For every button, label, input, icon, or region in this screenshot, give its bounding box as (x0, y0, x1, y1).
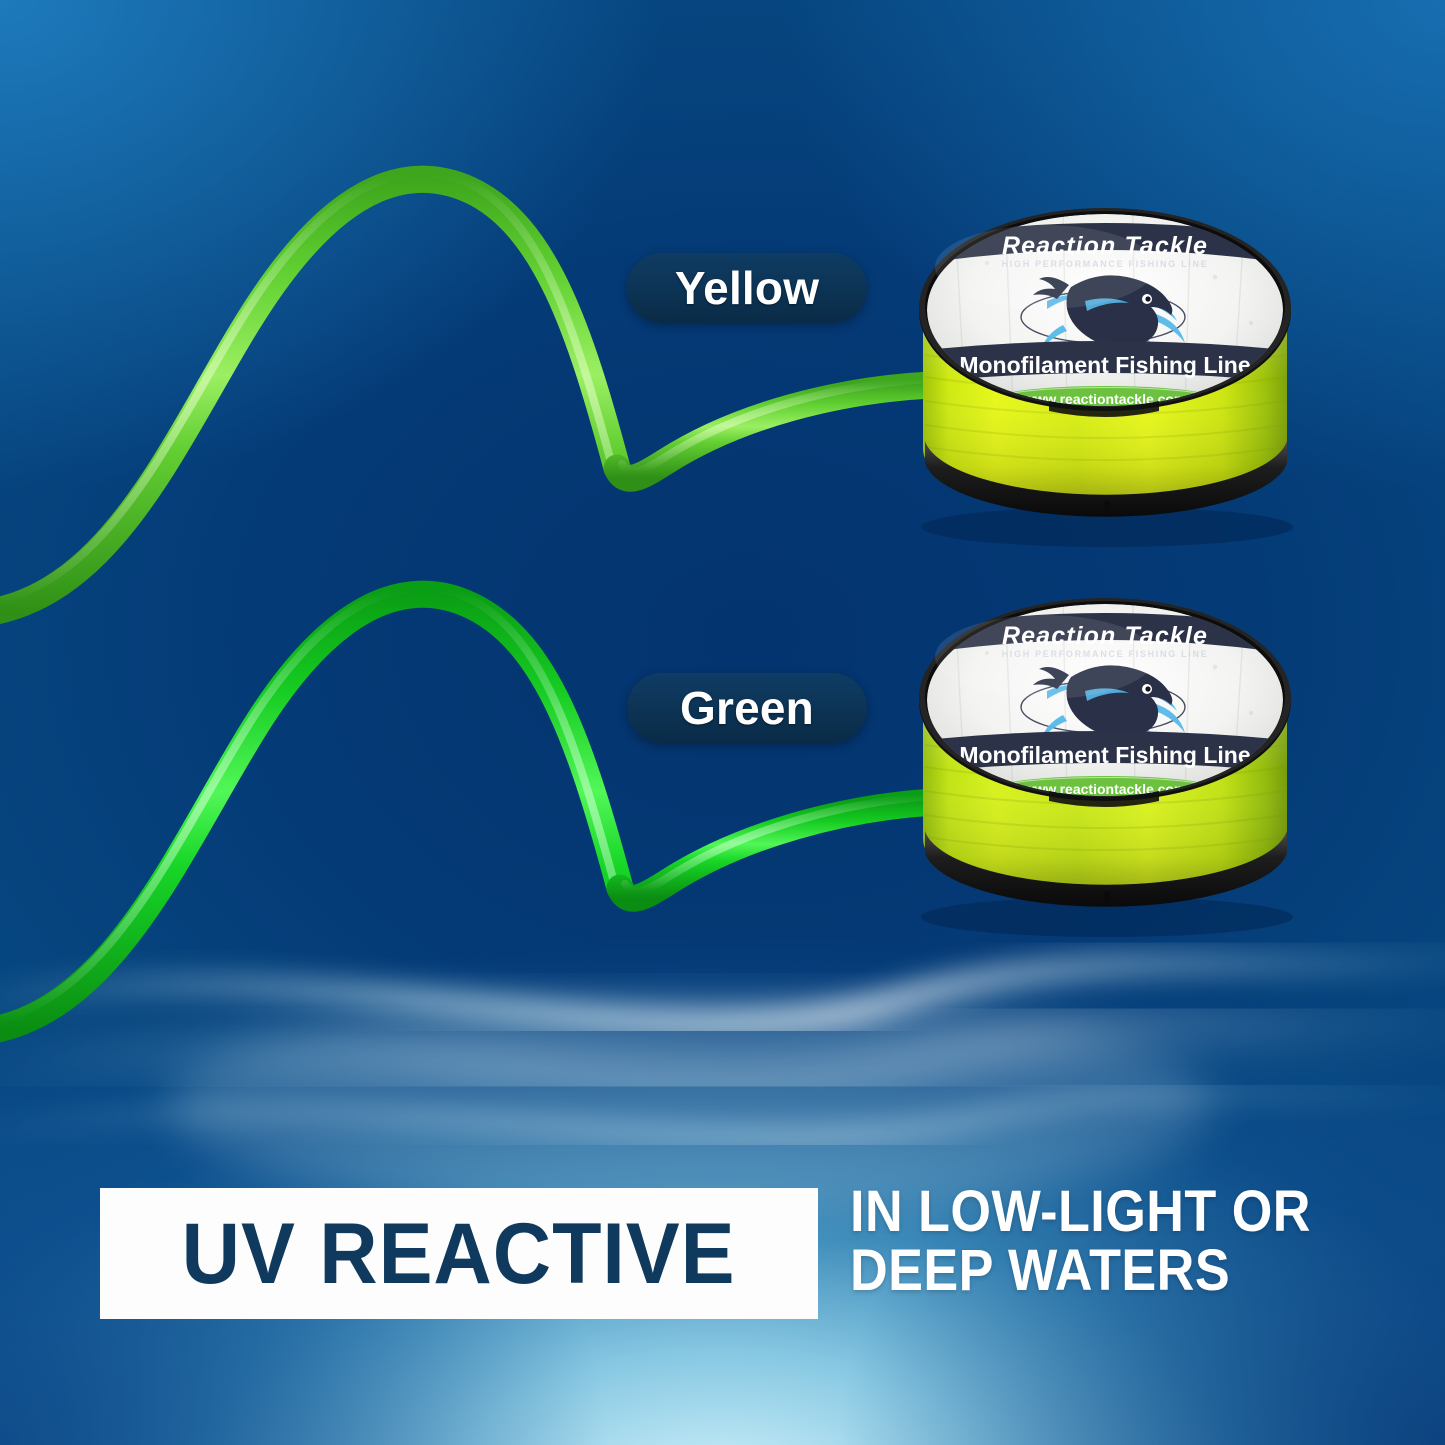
callout-yellow[interactable]: Yellow (627, 253, 867, 323)
bottom-banner: UV REACTIVE IN LOW-LIGHT OR DEEP WATERS (0, 1178, 1445, 1338)
banner-subtitle-line1: IN LOW-LIGHT OR (850, 1182, 1354, 1241)
product-name: Monofilament Fishing Line (959, 742, 1250, 768)
spool-yellow: Reaction Tackle HIGH PERFORMANCE FISHING… (895, 205, 1315, 550)
spool-green: Reaction Tackle HIGH PERFORMANCE FISHING… (895, 595, 1315, 940)
fishing-line-upper (0, 173, 1010, 615)
banner-subtitle-line2: DEEP WATERS (850, 1241, 1354, 1300)
callout-yellow-label: Yellow (675, 261, 819, 315)
product-graphic: Reaction Tackle HIGH PERFORMANCE FISHING… (0, 0, 1445, 1445)
headline-box: UV REACTIVE (100, 1188, 818, 1319)
callout-green[interactable]: Green (627, 673, 867, 743)
callout-green-label: Green (680, 681, 814, 735)
headline-text: UV REACTIVE (182, 1211, 736, 1297)
banner-subtitle: IN LOW-LIGHT OR DEEP WATERS (850, 1182, 1354, 1300)
product-name: Monofilament Fishing Line (959, 352, 1250, 378)
fishing-line-lower (0, 588, 1012, 1033)
